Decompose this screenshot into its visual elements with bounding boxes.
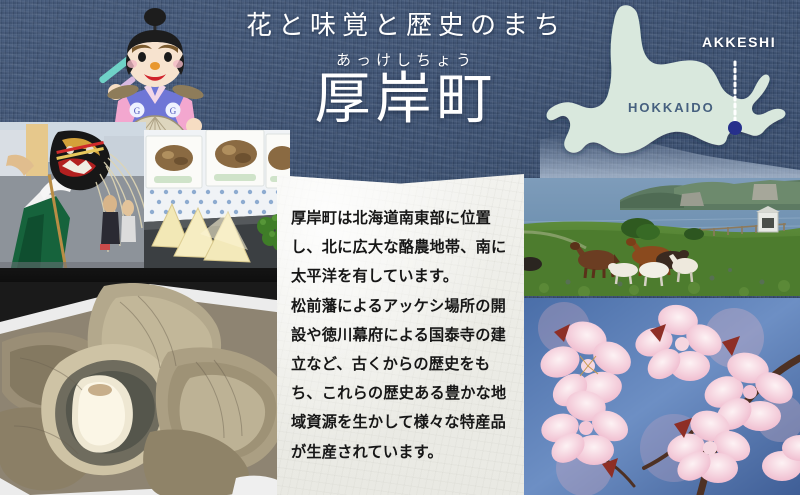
svg-text:G: G [170,106,177,116]
map-label-hokkaido: HOKKAIDO [628,100,715,115]
cheese-package [206,130,264,186]
description-paragraph-2: 松前藩によるアッケシ場所の開設や徳川幕府による国泰寺の建立など、古くからの歴史を… [291,292,511,467]
description-body: 厚岸町は北海道南東部に位置し、北に広大な酪農地帯、南に太平洋を有しています。 松… [291,204,511,467]
poster-canvas: AKKESHI HOKKAIDO 花と味覚と歴史のまち あっけしちょう 厚岸町 … [0,0,800,495]
photo-cherry-blossoms [524,298,800,495]
description-paragraph-1: 厚岸町は北海道南東部に位置し、北に広大な酪農地帯、南に太平洋を有しています。 [291,204,511,292]
map-label-akkeshi: AKKESHI [702,34,776,50]
photo-pasture-horses [524,178,800,296]
cheese-package [146,136,202,188]
page-title: 厚岸町 [206,71,606,130]
photo-lion-dance [0,122,146,274]
header-block: 花と味覚と歴史のまち あっけしちょう 厚岸町 [206,10,606,129]
photo-cheese [144,130,290,274]
photo-oysters [0,282,292,495]
description-panel: 厚岸町は北海道南東部に位置し、北に広大な酪農地帯、南に太平洋を有しています。 松… [277,172,524,495]
header-tagline: 花と味覚と歴史のまち [206,10,606,43]
svg-text:G: G [134,106,141,116]
akkeshi-marker-dot [728,121,742,135]
